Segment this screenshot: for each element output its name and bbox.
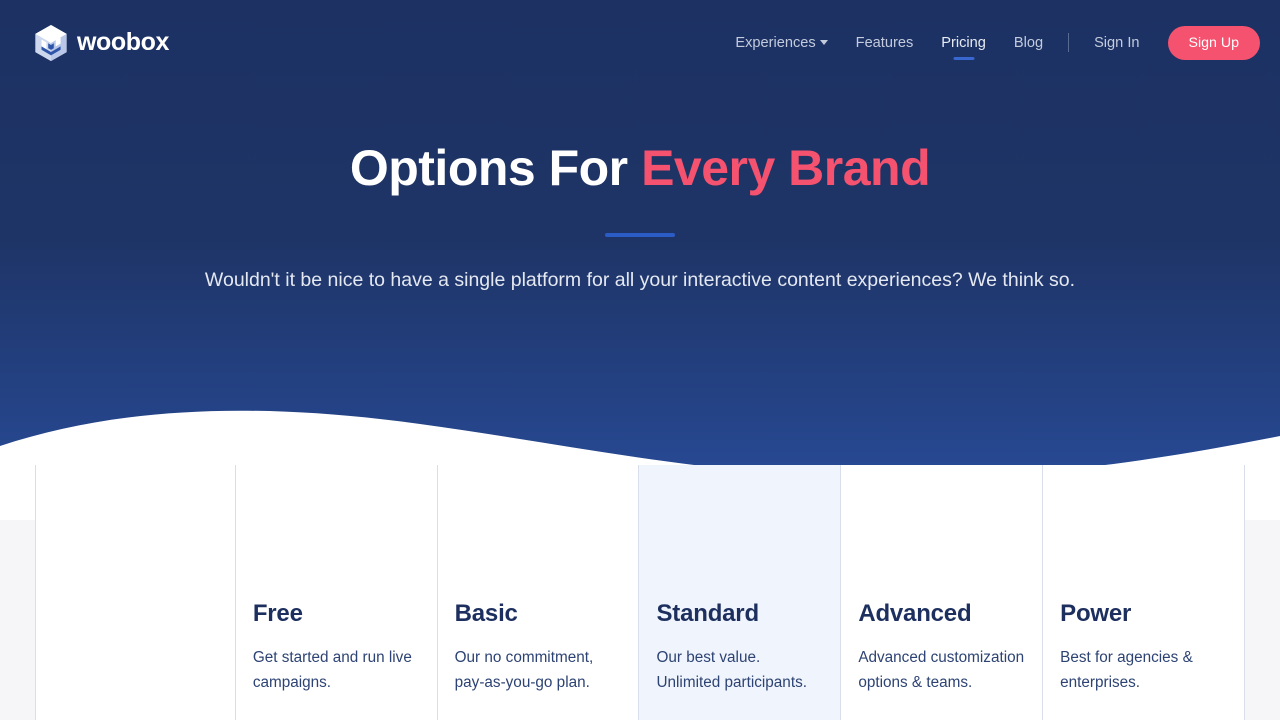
nav-item-label: Pricing: [941, 35, 986, 51]
plan-description: Our best value. Unlimited participants.: [656, 645, 823, 696]
nav-item-label: Blog: [1014, 35, 1043, 51]
woobox-hexagon-logo-icon: [34, 24, 68, 62]
nav-item-pricing[interactable]: Pricing: [927, 21, 1000, 65]
sign-up-button[interactable]: Sign Up: [1168, 26, 1260, 60]
plan-description: Best for agencies & enterprises.: [1060, 645, 1227, 696]
plan-name: Free: [253, 600, 420, 629]
pricing-column-basic[interactable]: Basic Our no commitment, pay-as-you-go p…: [438, 465, 640, 720]
plan-description: Our no commitment, pay-as-you-go plan.: [455, 645, 622, 696]
plan-name: Standard: [656, 600, 823, 629]
sign-in-link[interactable]: Sign In: [1080, 21, 1153, 65]
pricing-column-standard[interactable]: Standard Our best value. Unlimited parti…: [639, 465, 841, 720]
nav-item-features[interactable]: Features: [842, 21, 928, 65]
nav-active-underline: [953, 57, 974, 60]
nav-divider: [1068, 33, 1069, 52]
primary-navigation: Experiences Features Pricing Blog Sign I…: [721, 21, 1260, 65]
pricing-column-advanced[interactable]: Advanced Advanced customization options …: [841, 465, 1043, 720]
nav-item-blog[interactable]: Blog: [1000, 21, 1057, 65]
chevron-down-icon: [820, 40, 828, 45]
brand-logo-link[interactable]: woobox: [34, 24, 169, 62]
pricing-feature-column: [35, 465, 236, 720]
brand-name: woobox: [77, 30, 169, 55]
navbar: woobox Experiences Features Pricing Blog…: [0, 0, 1280, 85]
pricing-column-power[interactable]: Power Best for agencies & enterprises.: [1043, 465, 1245, 720]
plan-name: Power: [1060, 600, 1227, 629]
plan-name: Basic: [455, 600, 622, 629]
nav-item-label: Experiences: [735, 35, 815, 51]
plan-name: Advanced: [858, 600, 1025, 629]
pricing-column-free[interactable]: Free Get started and run live campaigns.: [236, 465, 438, 720]
plan-description: Advanced customization options & teams.: [858, 645, 1025, 696]
pricing-table: Free Get started and run live campaigns.…: [35, 465, 1245, 720]
nav-item-label: Features: [856, 35, 914, 51]
plan-description: Get started and run live campaigns.: [253, 645, 420, 696]
nav-item-experiences[interactable]: Experiences: [721, 21, 841, 65]
